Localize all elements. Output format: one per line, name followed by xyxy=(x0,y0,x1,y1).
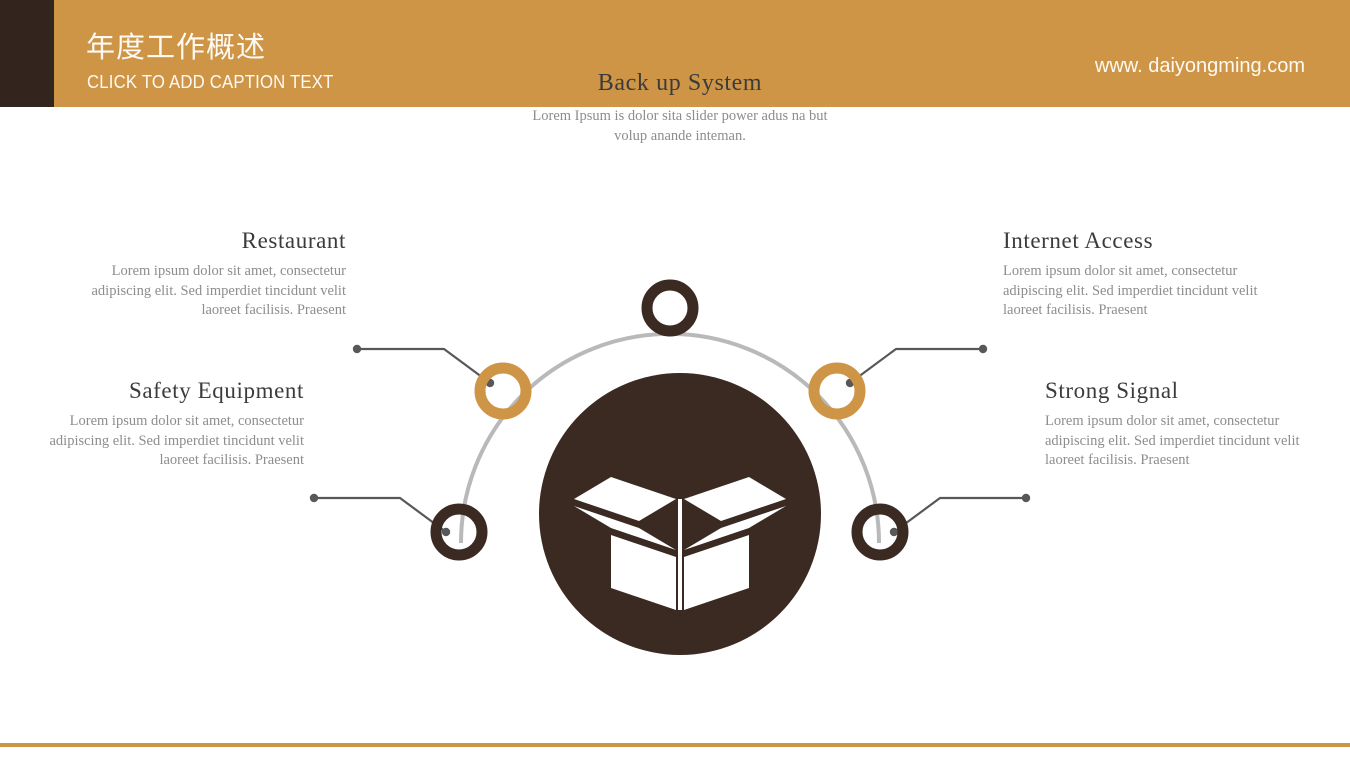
item-title: Safety Equipment xyxy=(20,378,304,403)
page-title: 年度工作概述 xyxy=(86,24,266,66)
node-restaurant[interactable] xyxy=(480,368,526,414)
connector-restaurant xyxy=(353,345,494,387)
item-title: Internet Access xyxy=(1003,228,1293,253)
item-safety-equipment[interactable]: Safety Equipment Lorem ipsum dolor sit a… xyxy=(20,378,304,470)
item-description: Lorem ipsum dolor sit amet, consectetur … xyxy=(1003,262,1293,320)
item-title: Back up System xyxy=(515,70,845,96)
connector-safety-equipment xyxy=(310,494,450,536)
page-subtitle: CLICK TO ADD CAPTION TEXT xyxy=(87,72,334,93)
item-strong-signal[interactable]: Strong Signal Lorem ipsum dolor sit amet… xyxy=(1045,378,1335,470)
site-url: www. daiyongming.com xyxy=(1095,55,1305,78)
item-restaurant[interactable]: Restaurant Lorem ipsum dolor sit amet, c… xyxy=(60,228,346,320)
item-description: Lorem Ipsum is dolor sita slider power a… xyxy=(515,107,845,146)
item-back-up-system[interactable]: Back up System Lorem Ipsum is dolor sita… xyxy=(515,70,845,146)
node-internet-access[interactable] xyxy=(814,368,860,414)
item-title: Restaurant xyxy=(60,228,346,253)
connector-internet-access xyxy=(846,345,987,387)
connector-strong-signal xyxy=(890,494,1030,536)
item-description: Lorem ipsum dolor sit amet, consectetur … xyxy=(60,262,346,320)
node-back-up-system[interactable] xyxy=(647,285,693,331)
bottom-accent-line xyxy=(0,743,1350,747)
header-accent-block xyxy=(0,0,54,107)
item-title: Strong Signal xyxy=(1045,378,1335,403)
item-description: Lorem ipsum dolor sit amet, consectetur … xyxy=(20,412,304,470)
item-description: Lorem ipsum dolor sit amet, consectetur … xyxy=(1045,412,1335,470)
item-internet-access[interactable]: Internet Access Lorem ipsum dolor sit am… xyxy=(1003,228,1293,320)
